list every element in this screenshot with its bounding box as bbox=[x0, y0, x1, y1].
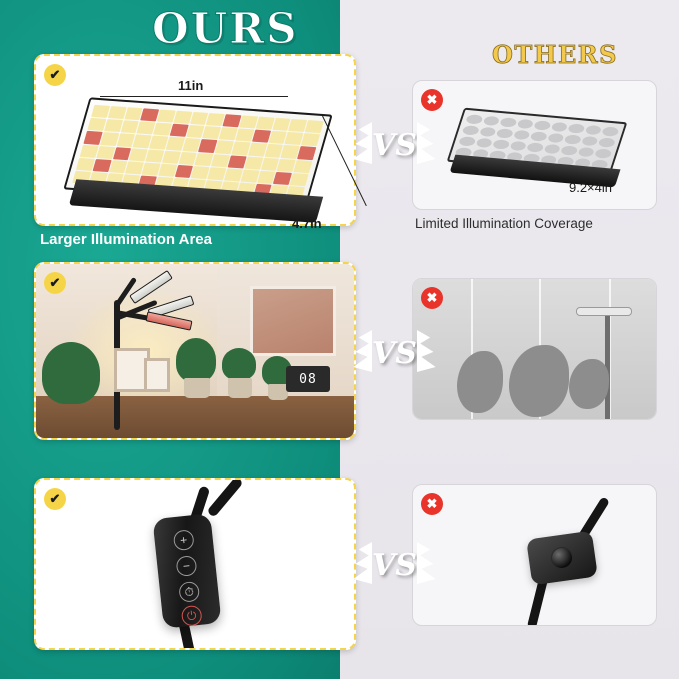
vs-label-1: VS bbox=[372, 128, 417, 163]
cross-badge-icon: ✖ bbox=[421, 89, 443, 111]
vs-divider-1: VS bbox=[372, 128, 417, 163]
vs-divider-2: VS bbox=[372, 336, 417, 371]
timer-plus-button[interactable]: + bbox=[173, 529, 195, 551]
old-lamp-head bbox=[576, 307, 632, 316]
comparison-infographic: OURS OTHERS ✔ 11in 4.7in bbox=[0, 0, 679, 679]
timer-power-button[interactable]: ⏻ bbox=[181, 605, 203, 627]
plant-grey-2 bbox=[509, 345, 569, 417]
plant-pot-right bbox=[228, 378, 252, 398]
others-panel-onoff-button: ✖ Only On/Off Button bbox=[412, 484, 657, 626]
vs-divider-3: VS bbox=[372, 548, 417, 583]
timer-minus-button[interactable]: − bbox=[175, 555, 197, 577]
ours-caption-illumination-area: Larger Illumination Area bbox=[40, 231, 212, 248]
others-panel-illumination-coverage: ✖ 9.2×4in Limited Illumination Coverage bbox=[412, 80, 657, 210]
plant-left bbox=[42, 342, 100, 404]
room-scene-ours: 08 bbox=[36, 264, 354, 438]
heading-ours: OURS bbox=[152, 4, 298, 53]
plant-grey-1 bbox=[457, 351, 503, 413]
vs-label-2: VS bbox=[372, 336, 417, 371]
wall-art bbox=[250, 286, 336, 356]
others-size-label: 9.2×4in bbox=[569, 180, 612, 195]
plant-pot-far-right bbox=[268, 384, 288, 400]
width-dimension-line bbox=[100, 96, 288, 97]
plant-center bbox=[176, 338, 216, 382]
check-badge-icon: ✔ bbox=[44, 64, 66, 86]
old-lamp-pole bbox=[605, 309, 610, 419]
others-panel-old-design: ✖ Old Design bbox=[412, 278, 657, 420]
ours-panel-multifunction-timer: ✔ + − ⏱ ⏻ Multifunction Timer bbox=[34, 478, 356, 650]
check-badge-icon-2: ✔ bbox=[44, 272, 66, 294]
timer-controller[interactable]: + − ⏱ ⏻ bbox=[152, 513, 221, 628]
switch-cable-bottom bbox=[527, 577, 548, 626]
plant-right bbox=[222, 348, 256, 380]
others-caption-illumination-coverage: Limited Illumination Coverage bbox=[415, 216, 593, 231]
heading-others: OTHERS bbox=[492, 40, 618, 69]
depth-dimension-label: 4.7in bbox=[292, 216, 322, 231]
ours-panel-patent-design: 08 ✔ New Patent Upgrade Design bbox=[34, 262, 356, 440]
cross-badge-icon-3: ✖ bbox=[421, 493, 443, 515]
picture-frame-2 bbox=[144, 358, 170, 392]
onoff-rocker-switch[interactable] bbox=[526, 531, 598, 586]
ours-panel-illumination-area: ✔ 11in 4.7in Larger Illumination Area bbox=[34, 54, 356, 226]
rocker-knob[interactable] bbox=[550, 546, 575, 571]
timer-clock-button[interactable]: ⏱ bbox=[178, 581, 200, 603]
led-board-ours-image: 11in 4.7in bbox=[56, 92, 346, 252]
power-cable-top-2 bbox=[206, 478, 243, 518]
room-scene-others bbox=[413, 279, 656, 419]
plant-pot-center bbox=[184, 378, 210, 398]
check-badge-icon-3: ✔ bbox=[44, 488, 66, 510]
cross-badge-icon-2: ✖ bbox=[421, 287, 443, 309]
plant-grey-3 bbox=[569, 359, 609, 409]
desk-clock: 08 bbox=[286, 366, 330, 392]
width-dimension-label: 11in bbox=[178, 78, 203, 93]
vs-label-3: VS bbox=[372, 548, 417, 583]
